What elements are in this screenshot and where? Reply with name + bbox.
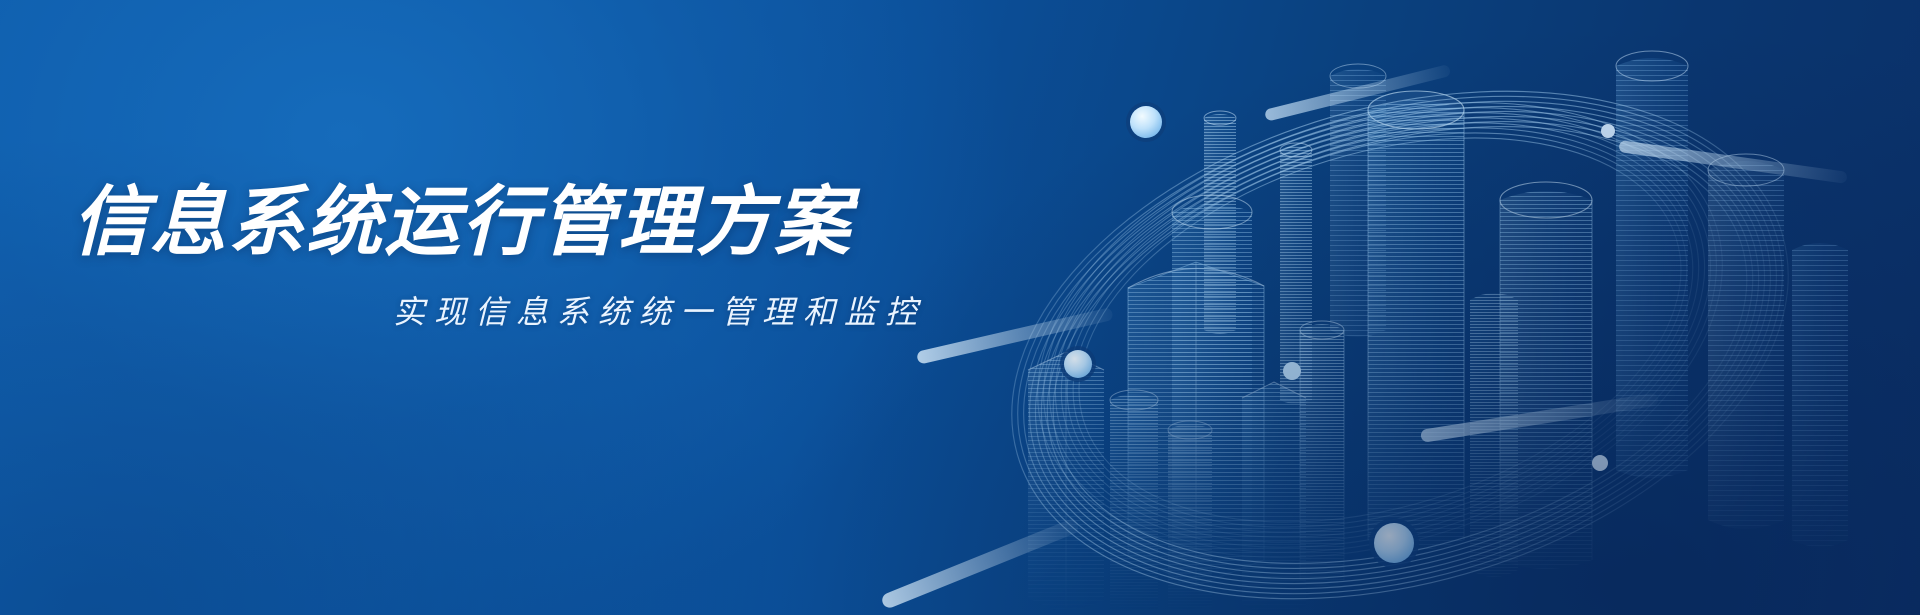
- page-subtitle: 实现信息系统统一管理和监控: [72, 287, 952, 333]
- glow-dot-5: [1592, 455, 1608, 471]
- city-towers: [1028, 51, 1848, 615]
- glow-dots: [1060, 102, 1615, 568]
- hero-text-block: 信息系统运行管理方案 实现信息系统统一管理和监控: [72, 180, 952, 333]
- tower-14: [1792, 243, 1848, 547]
- tower-8: [1172, 195, 1252, 569]
- tower-3: [1368, 91, 1464, 550]
- tower-5: [1616, 51, 1688, 478]
- tower-10: [1110, 390, 1158, 615]
- tower-7: [1204, 111, 1236, 334]
- tower-12: [1242, 382, 1306, 615]
- glow-dot-1: [1126, 102, 1166, 142]
- page-title: 信息系统运行管理方案: [72, 180, 952, 265]
- tower-4: [1500, 182, 1592, 569]
- glow-dot-2: [1060, 346, 1096, 382]
- tower-9: [1028, 352, 1104, 615]
- tower-2: [1300, 321, 1344, 586]
- orbit-ring-front: [952, 7, 1848, 615]
- glow-dot-6: [1601, 124, 1615, 138]
- wireframe-city-illustration: [860, 0, 1920, 615]
- glow-dot-4: [1369, 518, 1419, 568]
- tower-11: [1168, 421, 1212, 615]
- tower-16: [1470, 293, 1518, 577]
- hero-banner: 信息系统运行管理方案 实现信息系统统一管理和监控: [0, 0, 1920, 615]
- tower-13: [1708, 154, 1784, 529]
- light-streaks: [880, 64, 1848, 610]
- tower-6: [1280, 143, 1312, 404]
- tower-1: [1128, 262, 1264, 586]
- tower-15: [1330, 64, 1386, 337]
- orbit-ring-back: [981, 24, 1778, 615]
- glow-dot-3: [1283, 362, 1301, 380]
